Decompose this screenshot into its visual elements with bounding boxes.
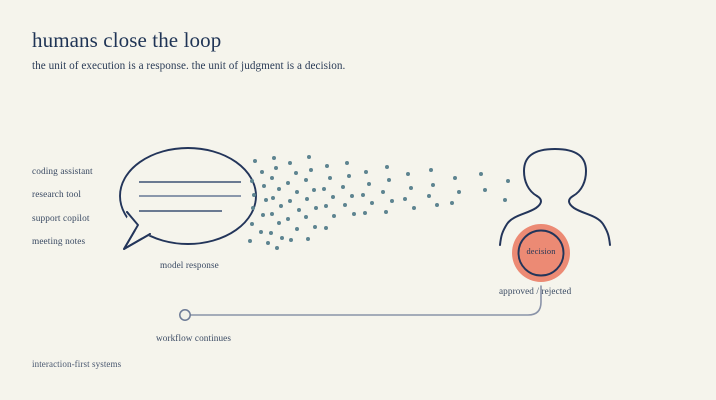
- caption-approved-rejected: approved / rejected: [499, 286, 571, 296]
- decision-badge[interactable]: [512, 224, 570, 282]
- footer-note: interaction-first systems: [32, 359, 121, 369]
- diagram-svg: [0, 0, 716, 400]
- caption-model-response: model response: [160, 260, 219, 270]
- workflow-line: [180, 286, 541, 320]
- token-dot-cloud: [248, 155, 510, 250]
- decision-badge-disc: [512, 224, 570, 282]
- slide-canvas: humans close the loop the unit of execut…: [0, 0, 716, 400]
- workflow-start-node[interactable]: [180, 310, 190, 320]
- speech-bubble: [120, 148, 256, 249]
- caption-workflow-continues: workflow continues: [156, 333, 231, 343]
